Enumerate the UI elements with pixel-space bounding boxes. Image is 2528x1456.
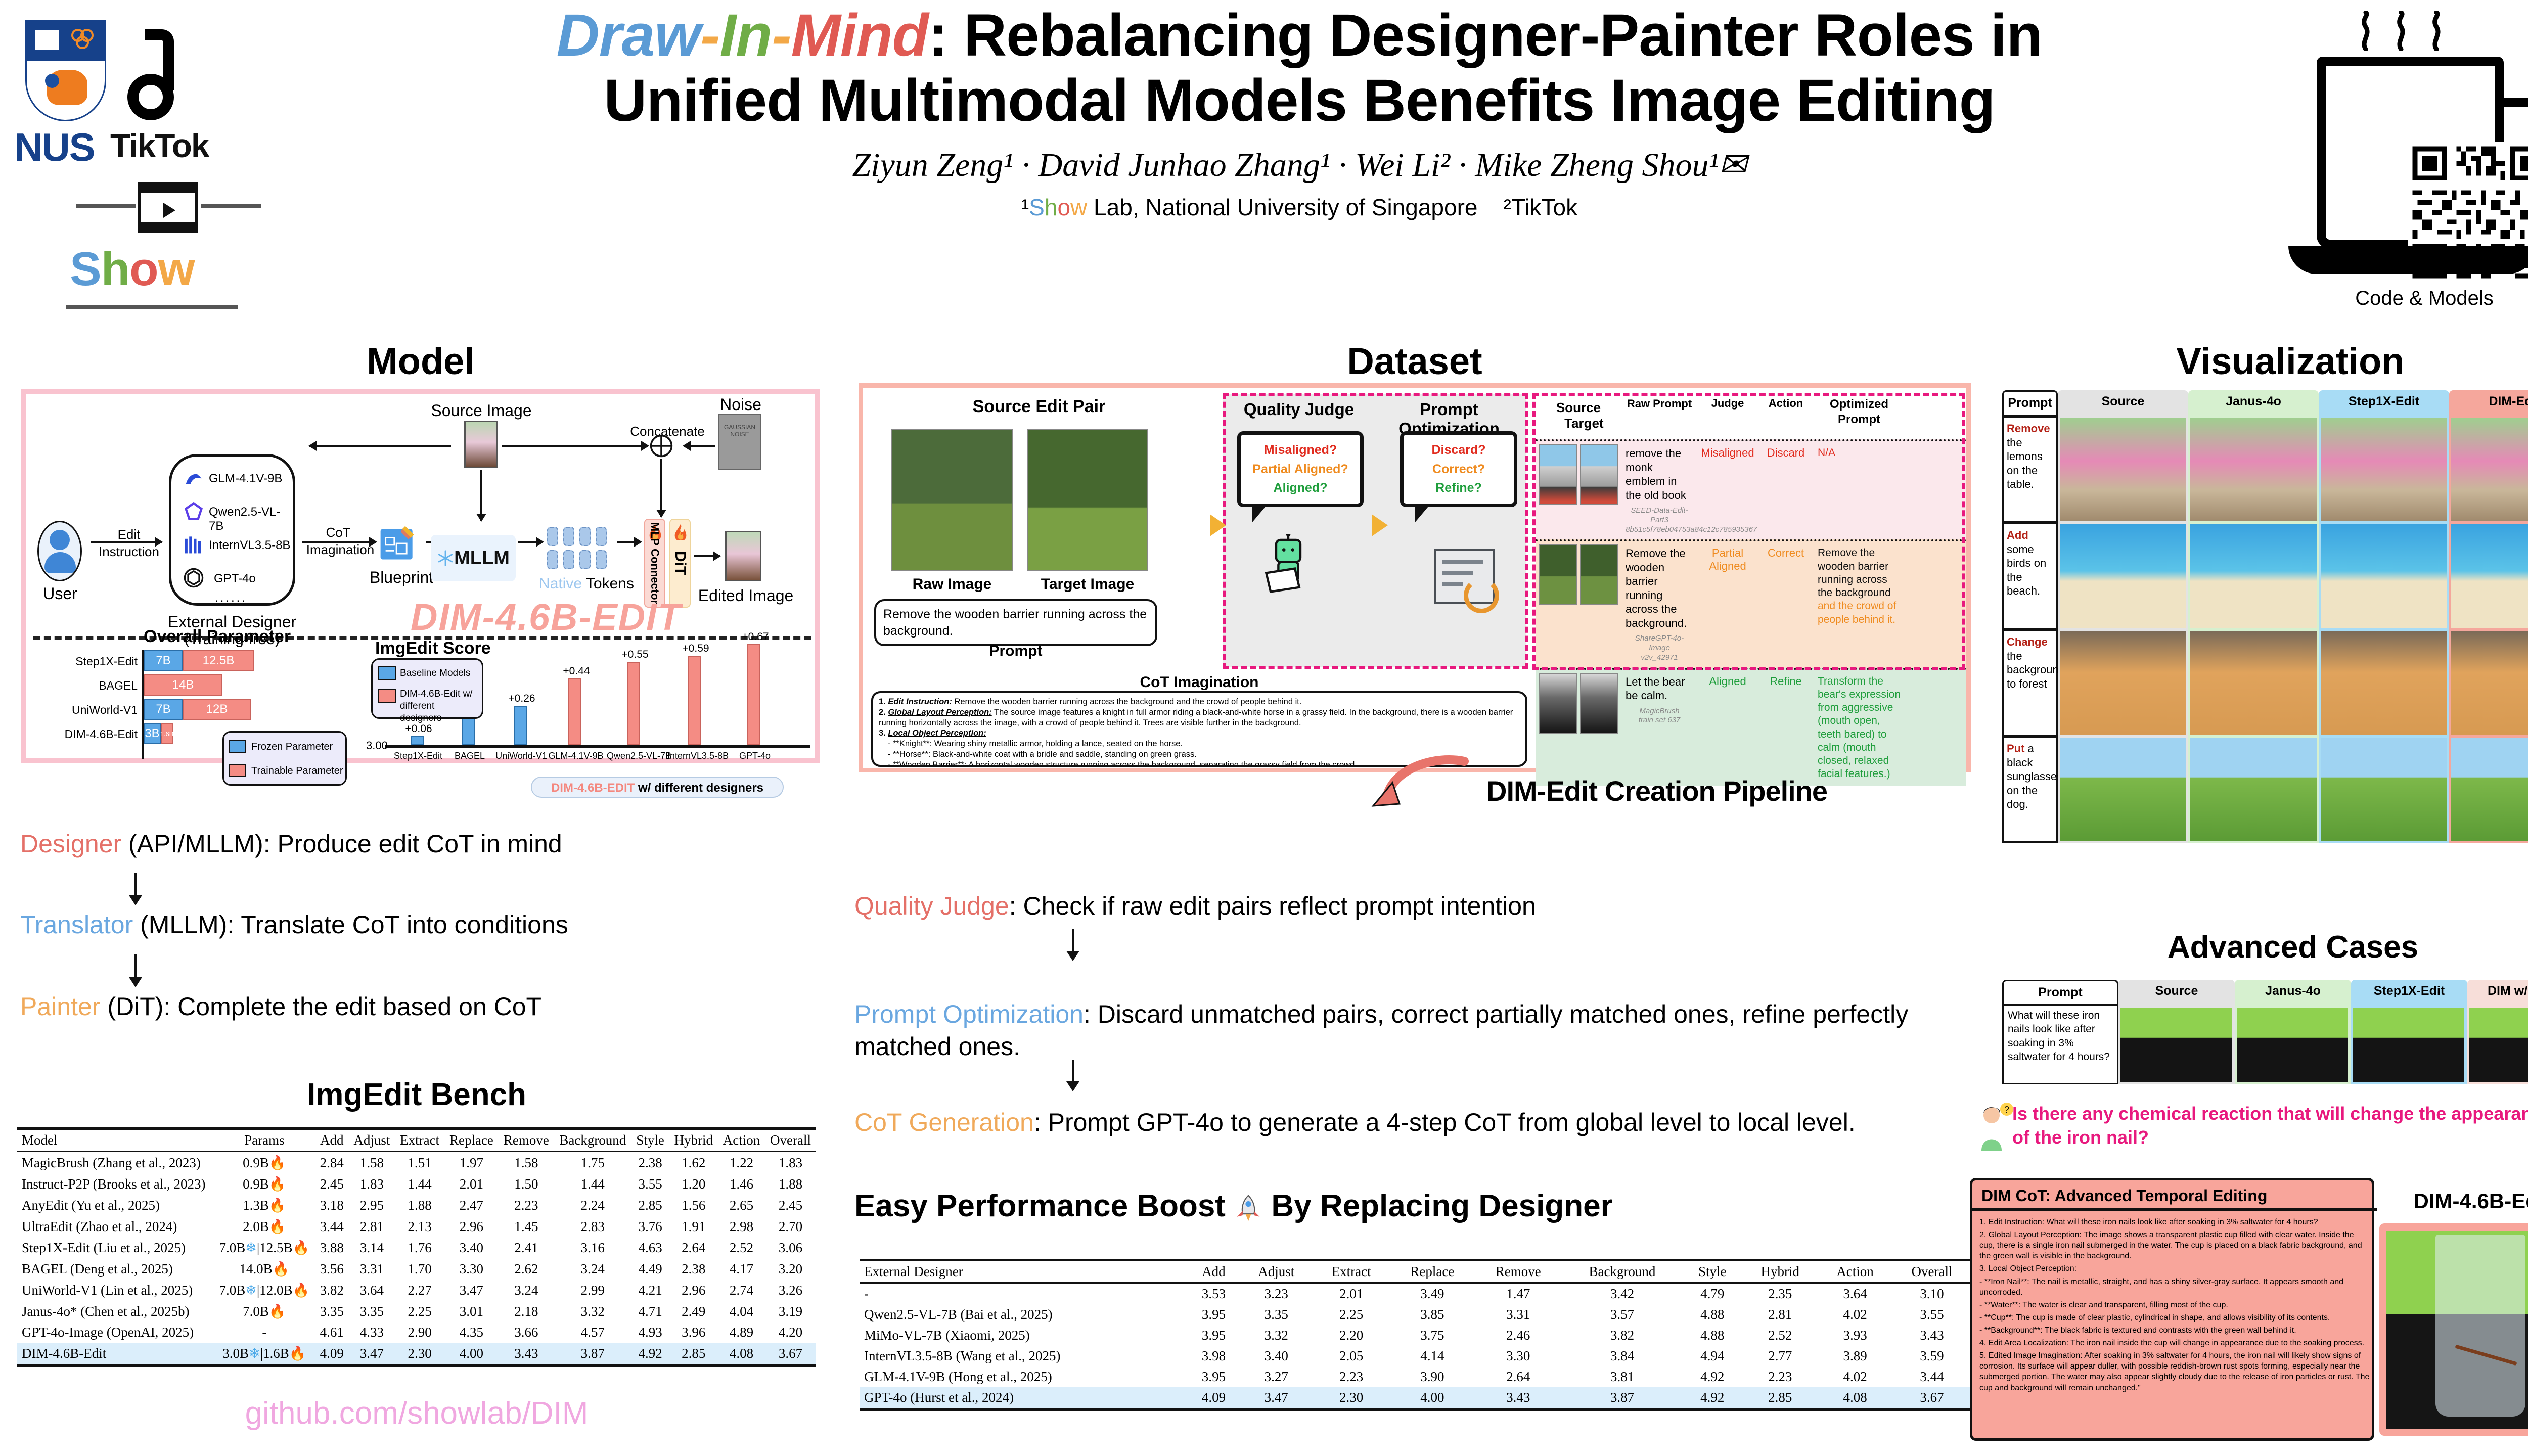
cell-value: 4.00: [1390, 1387, 1474, 1409]
advanced-col-header: Prompt: [2002, 980, 2118, 1006]
dim-cot-item: 1. Edit Instruction: What will these iro…: [1979, 1217, 2370, 1227]
mug-body: [2317, 57, 2504, 249]
table-header-row: Model Params Add Adjust Extract Replace …: [17, 1129, 816, 1152]
label-cot-2: Imagination: [297, 542, 383, 558]
cell-value: 2.85: [631, 1195, 669, 1216]
cell-model: DIM-4.6B-Edit: [17, 1343, 214, 1366]
imgedit-score-chart: ImgEdit Score(Max: 5) 3.00 +0.06 Step1X-…: [375, 640, 810, 767]
cell-value: 4.02: [1818, 1304, 1892, 1325]
legend-trainable: Trainable Parameter: [251, 765, 343, 777]
cell-params: 14.0B🔥: [214, 1258, 315, 1280]
dcol-hybrid: Hybrid: [1742, 1260, 1818, 1283]
cell-value: 3.55: [631, 1173, 669, 1195]
cell-value: 2.45: [765, 1195, 816, 1216]
col-overall: Overall: [765, 1129, 816, 1152]
pipeline-line-translator: Translator (MLLM): Translate CoT into co…: [20, 910, 568, 939]
cot-item: 2. Global Layout Perception: The source …: [879, 707, 1520, 729]
cell-value: 1.88: [765, 1173, 816, 1195]
cell-value: 4.08: [718, 1343, 765, 1366]
cp-target-image: [1580, 673, 1619, 734]
dataset-pipeline-text: Quality Judge: Check if raw edit pairs r…: [854, 890, 1982, 1139]
cell-value: 4.57: [554, 1322, 631, 1343]
tiktok-note-icon: [127, 29, 203, 120]
visualization-cell: [2319, 736, 2449, 843]
logo-block: NUS TikTok Show: [10, 5, 344, 329]
cell-value: 4.08: [1818, 1387, 1892, 1409]
visualization-cell: [2058, 736, 2188, 843]
cell-value: 3.30: [444, 1258, 499, 1280]
pipeline-line-designer: Designer (API/MLLM): Produce edit CoT in…: [20, 829, 562, 858]
cell-value: 2.30: [395, 1343, 444, 1366]
cell-value: 2.84: [315, 1152, 348, 1174]
cp-source-note: MagicBrushtrain set 637: [1626, 707, 1693, 726]
dcol-adjust: Adjust: [1240, 1260, 1313, 1283]
cell-value: 3.55: [1892, 1304, 1972, 1325]
table-row: InternVL3.5-8B (Wang et al., 2025)3.983.…: [860, 1346, 1972, 1367]
cell-value: 1.20: [669, 1173, 718, 1195]
cell-value: 3.23: [1240, 1283, 1313, 1305]
affil-sup1: ¹: [1021, 194, 1029, 220]
visualization-row: Remove the lemons on the table.: [2002, 416, 2528, 523]
dim-result-image: [2379, 1223, 2528, 1436]
score-val-5: +0.59: [682, 643, 710, 655]
boost-title: Easy Performance Boost By Replacing Desi…: [854, 1188, 1982, 1224]
visualization-col-header: Janus-4o: [2188, 390, 2319, 416]
cell-model: Step1X-Edit (Liu et al., 2025): [17, 1237, 214, 1258]
cell-value: 2.47: [444, 1195, 499, 1216]
legend-frozen: Frozen Parameter: [251, 741, 333, 753]
cell-params: 3.0B❄|1.6B🔥: [214, 1343, 315, 1366]
table-row: MiMo-VL-7B (Xiaomi, 2025)3.953.322.203.7…: [860, 1325, 1972, 1346]
label-blueprint: Blueprint: [366, 568, 437, 587]
advanced-image: [2120, 1008, 2232, 1082]
concat-plus-icon: [649, 434, 673, 458]
visualization-prompt: Put a black sunglasses on the dog.: [2002, 736, 2058, 843]
cell-value: 2.38: [631, 1152, 669, 1174]
nus-logo-text: NUS: [14, 124, 95, 170]
github-url[interactable]: github.com/showlab/DIM: [17, 1395, 816, 1431]
cell-value: 1.70: [395, 1258, 444, 1280]
advanced-image: [2353, 1008, 2464, 1082]
cell-value: 3.43: [1892, 1325, 1972, 1346]
imgedit-bench-table: Model Params Add Adjust Extract Replace …: [17, 1127, 816, 1367]
cell-value: 1.47: [1475, 1283, 1562, 1305]
imgedit-score-legend: Baseline Models DIM-4.6B-Edit w/ differe…: [371, 658, 483, 719]
mid-role-quality-judge: Quality Judge: [854, 892, 1009, 920]
cell-value: 3.87: [1562, 1387, 1683, 1409]
dim-cot-item: - **Cup**: The cup is made of clear plas…: [1979, 1312, 2370, 1323]
cell-designer: InternVL3.5-8B (Wang et al., 2025): [860, 1346, 1187, 1367]
advanced-col-header: Source: [2118, 980, 2235, 1006]
boost-title-b: By Replacing Designer: [1262, 1189, 1613, 1223]
cell-value: 3.44: [1892, 1367, 1972, 1387]
dcol-replace: Replace: [1390, 1260, 1474, 1283]
score-cat-3: GLM-4.1V-9B: [548, 751, 604, 761]
cell-value: 1.75: [554, 1152, 631, 1174]
cell-value: 3.95: [1187, 1304, 1240, 1325]
dataset-prompt-text: Remove the wooden barrier running across…: [874, 599, 1157, 646]
arrow-to-judge: [1210, 514, 1226, 536]
boost-title-a: Easy Performance Boost: [854, 1189, 1234, 1223]
table-row: DIM-4.6B-Edit3.0B❄|1.6B🔥4.093.472.304.00…: [17, 1343, 816, 1366]
designer-name-3: GPT-4o: [214, 572, 256, 586]
param-train-0: 12.5B: [183, 650, 254, 671]
label-noise: Noise: [693, 395, 789, 414]
cell-params: 2.0B🔥: [214, 1216, 315, 1237]
score-cat-4: Qwen2.5-VL-7B: [607, 751, 662, 761]
dim-cot-item: 3. Local Object Perception:: [1979, 1263, 2370, 1274]
cell-designer: GPT-4o (Hurst et al., 2024): [860, 1387, 1187, 1409]
advanced-cell: [2467, 1006, 2528, 1084]
blueprint-icon: [376, 522, 420, 565]
advanced-cell: [2351, 1006, 2467, 1084]
cell-value: 1.44: [554, 1173, 631, 1195]
cell-value: 4.88: [1683, 1325, 1742, 1346]
flame-icon: [672, 523, 689, 540]
cell-value: 3.24: [554, 1258, 631, 1280]
cell-value: 3.16: [554, 1237, 631, 1258]
label-edited-image: Edited Image: [693, 586, 799, 605]
visualization-cell: [2188, 629, 2319, 736]
cell-value: 2.25: [395, 1301, 444, 1322]
cell-value: 4.92: [1683, 1367, 1742, 1387]
label-mllm: MLLM: [454, 548, 510, 569]
judge-bubble: Misaligned? Partial Aligned? Aligned?: [1237, 431, 1364, 507]
cell-value: 1.22: [718, 1152, 765, 1174]
cell-value: 3.32: [1240, 1325, 1313, 1346]
cell-value: 3.35: [1240, 1304, 1313, 1325]
cell-params: 7.0B❄|12.0B🔥: [214, 1280, 315, 1301]
table-row: Step1X-Edit (Liu et al., 2025)7.0B❄|12.5…: [17, 1237, 816, 1258]
visualization-image: [2451, 631, 2528, 735]
label-dit: DiT: [671, 551, 689, 575]
chart-title-overall-parameter: Overall Parameter: [144, 627, 291, 647]
visualization-row: Add some birds on the beach.: [2002, 523, 2528, 629]
visualization-prompt: Change the background to forest: [2002, 629, 2058, 736]
cell-value: 3.44: [315, 1216, 348, 1237]
cell-value: 2.62: [499, 1258, 554, 1280]
label-target-image: Target Image: [1027, 576, 1148, 593]
cell-value: 4.79: [1683, 1283, 1742, 1305]
show-letter-o: o: [129, 242, 158, 295]
cell-value: 1.50: [499, 1173, 554, 1195]
mid-role-prompt-optimization: Prompt Optimization: [854, 1000, 1084, 1028]
pipeline-rest-designer: (API/MLLM): Produce edit CoT in mind: [121, 830, 562, 858]
pipeline-role-translator: Translator: [20, 911, 133, 939]
cell-value: 3.64: [349, 1280, 395, 1301]
cell-value: 3.98: [1187, 1346, 1240, 1367]
title-mind: Mind: [791, 2, 928, 69]
designer-name-2: InternVL3.5-8B: [209, 538, 290, 553]
cell-value: 2.64: [1475, 1367, 1562, 1387]
cp-source-image: [1539, 673, 1577, 734]
cell-value: 3.26: [765, 1280, 816, 1301]
section-title-visualization: Visualization: [2002, 340, 2528, 383]
qr-code-block[interactable]: Code & Models: [2260, 4, 2528, 328]
cell-value: 1.44: [395, 1173, 444, 1195]
cell-value: 3.31: [349, 1258, 395, 1280]
affil-rest: Lab, National University of Singapore: [1087, 194, 1477, 220]
mug-saucer: [2288, 246, 2528, 274]
visualization-cell: [2449, 416, 2528, 523]
mid-line-quality-judge: Quality Judge: Check if raw edit pairs r…: [854, 890, 1982, 922]
cell-value: 4.14: [1390, 1346, 1474, 1367]
cell-value: 2.64: [669, 1237, 718, 1258]
red-curved-arrow-icon: [1365, 753, 1471, 814]
external-designer-table: External Designer Add Adjust Extract Rep…: [860, 1259, 1972, 1410]
external-designer-box: GLM-4.1V-9B Qwen2.5-VL-7B InternVL3.5-8B…: [169, 454, 295, 606]
label-native-tokens: Native Tokens: [536, 575, 637, 593]
visualization-cell: [2449, 736, 2528, 843]
advanced-col-header: DIM w/o CoT: [2467, 980, 2528, 1006]
footer-rest: w/ different designers: [635, 781, 763, 795]
table-row: Janus-4o* (Chen et al., 2025b)7.0B🔥3.353…: [17, 1301, 816, 1322]
cell-model: UniWorld-V1 (Lin et al., 2025): [17, 1280, 214, 1301]
col-params: Params: [214, 1129, 315, 1152]
thinking-person-icon: ?: [1974, 1102, 2015, 1151]
cell-value: 4.09: [1187, 1387, 1240, 1409]
cell-value: 3.93: [1818, 1325, 1892, 1346]
col-background: Background: [554, 1129, 631, 1152]
pipeline-line-painter: Painter (DiT): Complete the edit based o…: [20, 992, 541, 1021]
show-letter-w: w: [158, 242, 195, 295]
cell-designer: Qwen2.5-VL-7B (Bai et al., 2025): [860, 1304, 1187, 1325]
visualization-image: [2321, 418, 2447, 521]
table-row: BAGEL (Deng et al., 2025)14.0B🔥3.563.311…: [17, 1258, 816, 1280]
cell-value: 4.21: [631, 1280, 669, 1301]
mlp-connector-block: MLP Connector: [644, 519, 665, 608]
internvl-logo-icon: [183, 534, 205, 557]
cell-value: 2.18: [499, 1301, 554, 1322]
col-replace: Replace: [444, 1129, 499, 1152]
dcol-remove: Remove: [1475, 1260, 1562, 1283]
cell-value: 3.90: [1390, 1367, 1474, 1387]
title-block: Draw-In-Mind: Rebalancing Designer-Paint…: [344, 0, 2255, 221]
cell-value: 2.99: [554, 1280, 631, 1301]
dcol-overall: Overall: [1892, 1260, 1972, 1283]
show-letter-h: h: [101, 242, 129, 295]
visualization-cell: [2058, 416, 2188, 523]
visualization-cell: [2449, 629, 2528, 736]
advanced-col-header: Janus-4o: [2235, 980, 2351, 1006]
param-cat-3: DIM-4.6B-Edit: [36, 727, 138, 741]
qwen-logo-icon: [183, 501, 205, 523]
cell-value: 3.27: [1240, 1367, 1313, 1387]
table-row: AnyEdit (Yu et al., 2025)1.3B🔥3.182.951.…: [17, 1195, 816, 1216]
title-dash2: -: [772, 2, 791, 69]
cell-value: 1.76: [395, 1237, 444, 1258]
table-row: GPT-4o-Image (OpenAI, 2025)-4.614.332.90…: [17, 1322, 816, 1343]
cell-value: 4.89: [718, 1322, 765, 1343]
table-row: UniWorld-V1 (Lin et al., 2025)7.0B❄|12.0…: [17, 1280, 816, 1301]
cell-value: 3.84: [1562, 1346, 1683, 1367]
param-frozen-3: 3B: [144, 723, 161, 744]
dcol-background: Background: [1562, 1260, 1683, 1283]
cell-model: MagicBrush (Zhang et al., 2023): [17, 1152, 214, 1174]
label-prompt: Prompt: [874, 643, 1157, 660]
cell-value: 3.87: [554, 1343, 631, 1366]
mid-role-cot-generation: CoT Generation: [854, 1108, 1034, 1136]
visualization-cell: [2449, 523, 2528, 629]
rocket-icon: [1234, 1194, 1262, 1222]
table-row: -3.533.232.013.491.473.424.792.353.643.1…: [860, 1283, 1972, 1305]
cell-value: 1.91: [669, 1216, 718, 1237]
overall-parameter-legend: Frozen Parameter Trainable Parameter: [222, 731, 347, 786]
col-action: Action: [718, 1129, 765, 1152]
cell-value: 3.67: [1892, 1387, 1972, 1409]
author-list: Ziyun Zeng¹ · David Junhao Zhang¹ · Wei …: [344, 145, 2255, 185]
judge-opt-0: Misaligned?: [1241, 441, 1360, 460]
cell-value: 1.46: [718, 1173, 765, 1195]
score-cat-0: Step1X-Edit: [390, 751, 446, 761]
visualization-col-header: Prompt: [2002, 390, 2058, 416]
visualization-image: [2190, 418, 2317, 521]
cell-value: 2.52: [1742, 1325, 1818, 1346]
param-train-2: 12B: [183, 699, 251, 720]
legend-baseline-models: Baseline Models: [400, 668, 470, 679]
visualization-header: PromptSourceJanus-4oStep1X-EditDIM-Edit: [2002, 390, 2528, 416]
dataset-panel: Source Edit Pair Raw Image Target Image …: [859, 383, 1971, 772]
cell-value: 2.81: [1742, 1304, 1818, 1325]
noise-thumb: [718, 414, 761, 470]
cell-value: 3.19: [765, 1301, 816, 1322]
cell-value: 1.58: [349, 1152, 395, 1174]
cp-action: Refine: [1758, 670, 1814, 786]
visualization-cell: [2188, 416, 2319, 523]
col-remove: Remove: [499, 1129, 554, 1152]
advanced-prompt: What will these iron nails look like aft…: [2002, 1006, 2118, 1084]
poster-root: NUS TikTok Show Draw-In-Mind: Rebalancin…: [0, 0, 2528, 1456]
mid-rest-cot-generation: : Prompt GPT-4o to generate a 4-step CoT…: [1034, 1108, 1856, 1136]
dcol-style: Style: [1683, 1260, 1742, 1283]
cot-item: 3. Local Object Perception:: [879, 728, 1520, 739]
cell-value: 2.85: [669, 1343, 718, 1366]
advanced-cell: [2235, 1006, 2351, 1084]
pipeline-role-designer: Designer: [20, 830, 121, 858]
visualization-cell: [2058, 523, 2188, 629]
visualization-cell: [2188, 523, 2319, 629]
cell-value: 3.42: [1562, 1283, 1683, 1305]
cell-model: BAGEL (Deng et al., 2025): [17, 1258, 214, 1280]
creation-pipeline-table: Source Target Raw Prompt Judge Action Op…: [1536, 394, 1966, 667]
dim-cot-item: 2. Global Layout Perception: The image s…: [1979, 1230, 2370, 1261]
visualization-image: [2451, 524, 2528, 628]
cp-images: [1536, 670, 1621, 786]
cell-value: 2.70: [765, 1216, 816, 1237]
param-cat-2: UniWorld-V1: [36, 703, 138, 717]
dim-cot-body: 1. Edit Instruction: What will these iro…: [1972, 1212, 2377, 1440]
title-in: In: [719, 2, 772, 69]
param-cat-1: BAGEL: [36, 679, 138, 693]
dim-cot-item: - **Iron Nail**: The nail is metallic, s…: [1979, 1277, 2370, 1298]
cell-value: 1.45: [499, 1216, 554, 1237]
visualization-cell: [2319, 629, 2449, 736]
cell-value: 3.64: [1818, 1283, 1892, 1305]
cell-value: 3.82: [1562, 1325, 1683, 1346]
pipeline-role-painter: Painter: [20, 992, 100, 1021]
opt-opt-2: Refine?: [1404, 479, 1514, 498]
cell-value: 1.83: [765, 1152, 816, 1174]
cell-value: 4.71: [631, 1301, 669, 1322]
score-cat-2: UniWorld-V1: [493, 751, 549, 761]
cell-params: 0.9B🔥: [214, 1152, 315, 1174]
visualization-image: [2190, 738, 2317, 841]
dcol-add: Add: [1187, 1260, 1240, 1283]
col-hybrid: Hybrid: [669, 1129, 718, 1152]
show-letter-s: S: [70, 242, 101, 295]
cp-raw-prompt: Let the bear be calm.MagicBrushtrain set…: [1621, 670, 1697, 786]
cell-value: 2.96: [669, 1280, 718, 1301]
cell-value: 3.31: [1475, 1304, 1562, 1325]
cell-value: 2.38: [669, 1258, 718, 1280]
visualization-prompt: Remove the lemons on the table.: [2002, 416, 2058, 523]
designer-name-4: ......: [215, 591, 247, 605]
dim-cot-item: - **Background**: The black fabric is te…: [1979, 1325, 2370, 1336]
cell-value: 4.04: [718, 1301, 765, 1322]
legend-dim-designers: DIM-4.6B-Edit w/ different designers: [400, 688, 476, 724]
visualization-image: [2451, 418, 2528, 521]
param-train-3: 1.6B: [161, 723, 173, 744]
visualization-image: [2321, 631, 2447, 735]
cell-value: 4.92: [1683, 1387, 1742, 1409]
optimize-bubble: Discard? Correct? Refine?: [1400, 431, 1517, 507]
visualization-cell: [2319, 416, 2449, 523]
cell-value: 2.74: [718, 1280, 765, 1301]
opt-opt-1: Correct?: [1404, 460, 1514, 479]
cell-value: 2.46: [1475, 1325, 1562, 1346]
judge-opt-2: Aligned?: [1241, 479, 1360, 498]
pipeline-rest-translator: (MLLM): Translate CoT into conditions: [133, 911, 568, 939]
cell-value: 3.53: [1187, 1283, 1240, 1305]
score-val-4: +0.55: [621, 649, 649, 661]
cell-value: 4.33: [349, 1322, 395, 1343]
visualization-image: [2321, 524, 2447, 628]
cell-value: 3.35: [349, 1301, 395, 1322]
section-title-dataset: Dataset: [859, 340, 1971, 383]
table-row: MagicBrush (Zhang et al., 2023)0.9B🔥2.84…: [17, 1152, 816, 1174]
visualization-image: [2060, 418, 2186, 521]
visualization-prompt: Add some birds on the beach.: [2002, 523, 2058, 629]
cell-value: 3.18: [315, 1195, 348, 1216]
designer-name-1: Qwen2.5-VL-7B: [209, 505, 293, 533]
dim-cot-header: DIM CoT: Advanced Temporal Editing: [1972, 1180, 2377, 1211]
cell-params: 1.3B🔥: [214, 1195, 315, 1216]
param-train-1: 14B: [144, 674, 222, 696]
label-noise-sub: GAUSSIAN NOISE: [718, 424, 761, 438]
cell-value: 1.83: [349, 1173, 395, 1195]
dim-cot-item: - **Water**: The water is clear and tran…: [1979, 1300, 2370, 1310]
cell-model: Instruct-P2P (Brooks et al., 2023): [17, 1173, 214, 1195]
col-model: Model: [17, 1129, 214, 1152]
cell-value: 3.40: [1240, 1346, 1313, 1367]
table-row: UltraEdit (Zhao et al., 2024)2.0B🔥3.442.…: [17, 1216, 816, 1237]
cell-value: 2.81: [349, 1216, 395, 1237]
cell-model: UltraEdit (Zhao et al., 2024): [17, 1216, 214, 1237]
openai-logo-icon: [183, 567, 205, 589]
cell-value: 1.56: [669, 1195, 718, 1216]
cell-value: 2.30: [1313, 1387, 1390, 1409]
mid-line-prompt-optimization: Prompt Optimization: Discard unmatched p…: [854, 998, 1982, 1063]
target-image-thumb: [1027, 429, 1148, 571]
cell-value: 2.01: [1313, 1283, 1390, 1305]
dim-edit-watermark: DIM-4.6B-EDIT: [411, 596, 682, 639]
qr-caption: Code & Models: [2260, 287, 2528, 310]
title-dash1: -: [700, 2, 719, 69]
cell-value: 1.62: [669, 1152, 718, 1174]
cell-value: 3.76: [631, 1216, 669, 1237]
glm-logo-icon: [183, 468, 205, 490]
table-row: Qwen2.5-VL-7B (Bai et al., 2025)3.953.35…: [860, 1304, 1972, 1325]
